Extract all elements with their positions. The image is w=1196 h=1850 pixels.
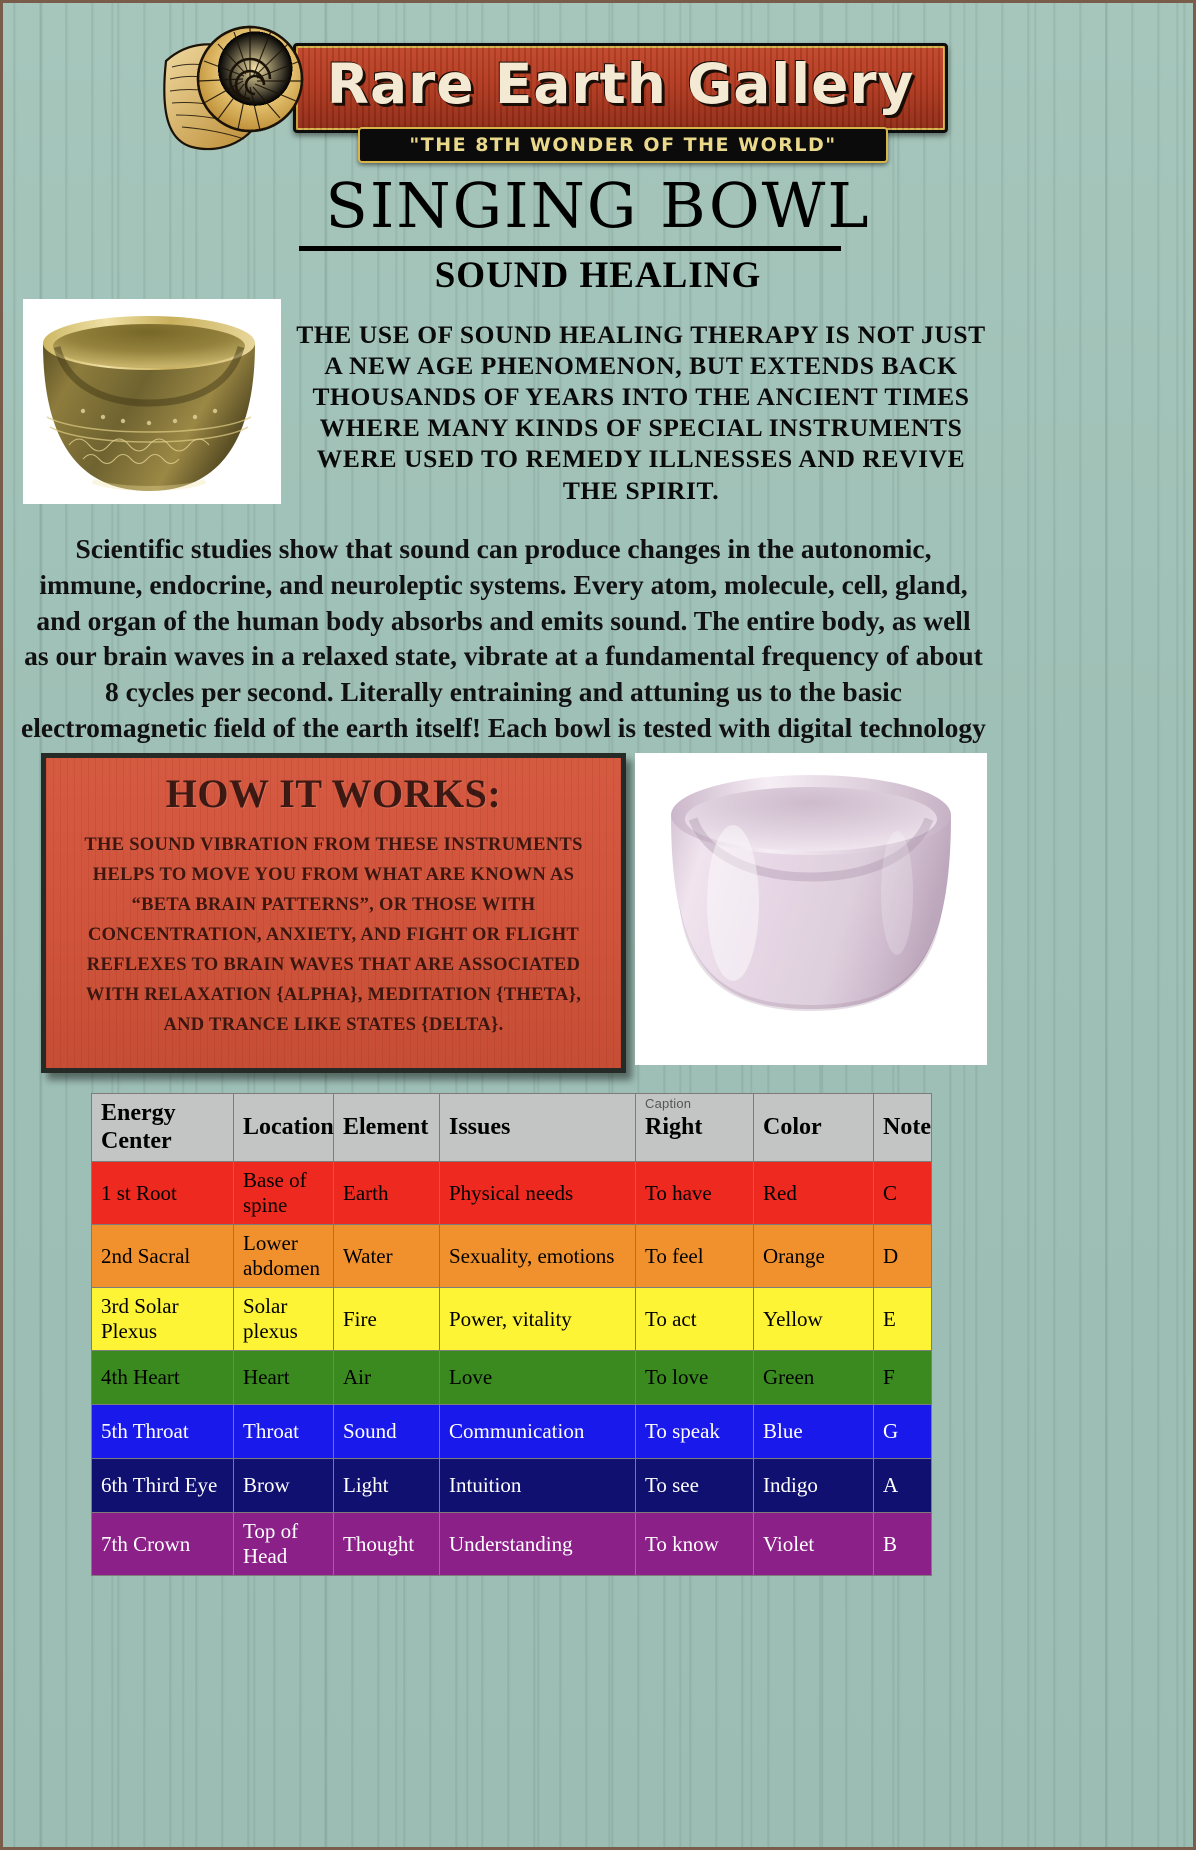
cell-right: To love — [636, 1351, 754, 1405]
caption-label: Caption — [645, 1096, 691, 1111]
cell-note: G — [874, 1405, 932, 1459]
ammonite-fossil-icon — [158, 21, 338, 161]
cell-location: Throat — [234, 1405, 334, 1459]
cell-energy-center: 5th Throat — [92, 1405, 234, 1459]
cell-color: Violet — [754, 1513, 874, 1576]
table-row: 1 st Root Base of spine Earth Physical n… — [92, 1162, 932, 1225]
page-subtitle: SOUND HEALING — [3, 254, 1193, 297]
science-paragraph: Scientific studies show that sound can p… — [21, 531, 986, 781]
cell-right: To act — [636, 1288, 754, 1351]
cell-energy-center: 1 st Root — [92, 1162, 234, 1225]
cell-right: To feel — [636, 1225, 754, 1288]
cell-element: Water — [334, 1225, 440, 1288]
cell-issues: Power, vitality — [440, 1288, 636, 1351]
cell-element: Air — [334, 1351, 440, 1405]
cell-location: Lower abdomen — [234, 1225, 334, 1288]
cell-right: To have — [636, 1162, 754, 1225]
cell-location: Heart — [234, 1351, 334, 1405]
brand-logo-banner: Rare Earth Gallery — [158, 21, 948, 161]
cell-color: Green — [754, 1351, 874, 1405]
crystal-singing-bowl-photo — [635, 753, 987, 1065]
brass-singing-bowl-photo — [23, 299, 281, 504]
column-header-energy-center: Energy Center — [92, 1094, 234, 1162]
table-row: 6th Third Eye Brow Light Intuition To se… — [92, 1459, 932, 1513]
cell-element: Thought — [334, 1513, 440, 1576]
cell-right: To speak — [636, 1405, 754, 1459]
how-it-works-body: The sound vibration from these instrumen… — [64, 831, 603, 1041]
cell-location: Top of Head — [234, 1513, 334, 1576]
cell-color: Yellow — [754, 1288, 874, 1351]
column-header-right: Caption Right — [636, 1094, 754, 1162]
table-header-row: Energy Center Location Element Issues Ca… — [92, 1094, 932, 1162]
brand-name: Rare Earth Gallery — [296, 52, 945, 116]
cell-energy-center: 6th Third Eye — [92, 1459, 234, 1513]
how-it-works-title: HOW IT WORKS: — [46, 770, 621, 817]
cell-energy-center: 7th Crown — [92, 1513, 234, 1576]
cell-note: F — [874, 1351, 932, 1405]
cell-element: Earth — [334, 1162, 440, 1225]
column-header-note: Note — [874, 1094, 932, 1162]
column-header-right-label: Right — [645, 1114, 702, 1140]
cell-color: Red — [754, 1162, 874, 1225]
cell-energy-center: 4th Heart — [92, 1351, 234, 1405]
cell-issues: Love — [440, 1351, 636, 1405]
table-row: 2nd Sacral Lower abdomen Water Sexuality… — [92, 1225, 932, 1288]
table-row: 7th Crown Top of Head Thought Understand… — [92, 1513, 932, 1576]
column-header-issues: Issues — [440, 1094, 636, 1162]
column-header-energy-center-label: Energy Center — [101, 1100, 176, 1154]
brand-name-plate: Rare Earth Gallery — [293, 43, 948, 133]
cell-location: Base of spine — [234, 1162, 334, 1225]
cell-energy-center: 3rd Solar Plexus — [92, 1288, 234, 1351]
table-row: 5th Throat Throat Sound Communication To… — [92, 1405, 932, 1459]
table-row: 3rd Solar Plexus Solar plexus Fire Power… — [92, 1288, 932, 1351]
cell-color: Indigo — [754, 1459, 874, 1513]
cell-note: D — [874, 1225, 932, 1288]
cell-color: Blue — [754, 1405, 874, 1459]
cell-issues: Sexuality, emotions — [440, 1225, 636, 1288]
brand-tagline-plate: "THE 8TH WONDER OF THE WORLD" — [358, 127, 888, 163]
intro-paragraph: The use of sound healing therapy is not … — [291, 319, 991, 506]
poster-page: Rare Earth Gallery — [0, 0, 1196, 1850]
cell-issues: Understanding — [440, 1513, 636, 1576]
page-title: SINGING BOWL — [3, 175, 1193, 237]
cell-color: Orange — [754, 1225, 874, 1288]
how-it-works-box: HOW IT WORKS: The sound vibration from t… — [41, 753, 626, 1073]
cell-note: C — [874, 1162, 932, 1225]
cell-note: E — [874, 1288, 932, 1351]
cell-note: A — [874, 1459, 932, 1513]
column-header-color: Color — [754, 1094, 874, 1162]
cell-issues: Communication — [440, 1405, 636, 1459]
cell-issues: Physical needs — [440, 1162, 636, 1225]
title-underline-rule — [299, 246, 841, 251]
cell-right: To know — [636, 1513, 754, 1576]
cell-right: To see — [636, 1459, 754, 1513]
column-header-element: Element — [334, 1094, 440, 1162]
cell-energy-center: 2nd Sacral — [92, 1225, 234, 1288]
table-row: 4th Heart Heart Air Love To love Green F — [92, 1351, 932, 1405]
brand-tagline: "THE 8TH WONDER OF THE WORLD" — [409, 134, 836, 156]
chakra-table-container: Energy Center Location Element Issues Ca… — [91, 1093, 931, 1576]
chakra-table: Energy Center Location Element Issues Ca… — [91, 1093, 932, 1576]
cell-location: Brow — [234, 1459, 334, 1513]
cell-location: Solar plexus — [234, 1288, 334, 1351]
cell-element: Light — [334, 1459, 440, 1513]
cell-element: Fire — [334, 1288, 440, 1351]
cell-element: Sound — [334, 1405, 440, 1459]
column-header-location: Location — [234, 1094, 334, 1162]
cell-note: B — [874, 1513, 932, 1576]
cell-issues: Intuition — [440, 1459, 636, 1513]
